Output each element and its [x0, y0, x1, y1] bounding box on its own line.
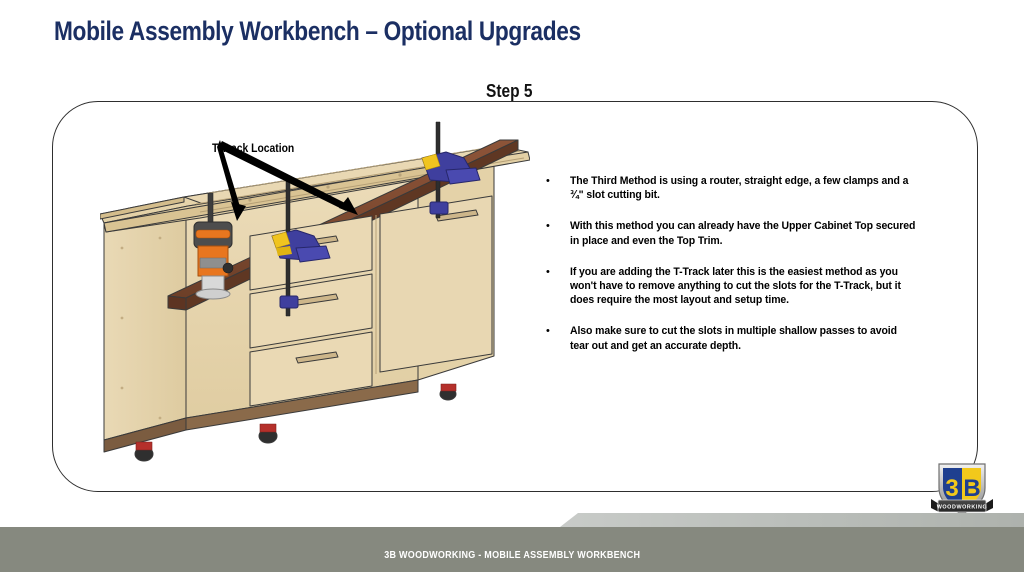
logo-initial-3: 3 [945, 475, 958, 502]
bullet-marker: • [546, 265, 570, 279]
ttrack-location-label: T-Track Location [212, 143, 294, 155]
logo-banner-text: WOODWORKING [937, 505, 988, 511]
slide: Mobile Assembly Workbench – Optional Upg… [0, 0, 1024, 572]
workbench-illustration [100, 118, 530, 493]
bullet-text: The Third Method is using a router, stra… [570, 174, 916, 202]
bullet-marker: • [546, 174, 570, 188]
footer-accent-stripe [560, 513, 1024, 527]
brand-logo: 3 B WOODWORKING [929, 458, 995, 520]
bullet-text: With this method you can already have th… [570, 219, 916, 247]
step-heading: Step 5 [486, 81, 532, 102]
bullet-text: Also make sure to cut the slots in multi… [570, 324, 916, 352]
list-item: • The Third Method is using a router, st… [546, 174, 946, 202]
bullet-text: If you are adding the T-Track later this… [570, 265, 916, 308]
page-title: Mobile Assembly Workbench – Optional Upg… [54, 16, 581, 47]
bullet-marker: • [546, 324, 570, 338]
list-item: • With this method you can already have … [546, 219, 946, 247]
list-item: • Also make sure to cut the slots in mul… [546, 324, 946, 352]
footer-caption-text: 3B WOODWORKING - MOBILE ASSEMBLY WORKBEN… [384, 550, 640, 561]
logo-initial-b: B [963, 475, 980, 502]
list-item: • If you are adding the T-Track later th… [546, 265, 946, 308]
footer-caption: 3B WOODWORKING - MOBILE ASSEMBLY WORKBEN… [0, 550, 1024, 561]
bullet-marker: • [546, 219, 570, 233]
bullet-list: • The Third Method is using a router, st… [546, 174, 946, 370]
